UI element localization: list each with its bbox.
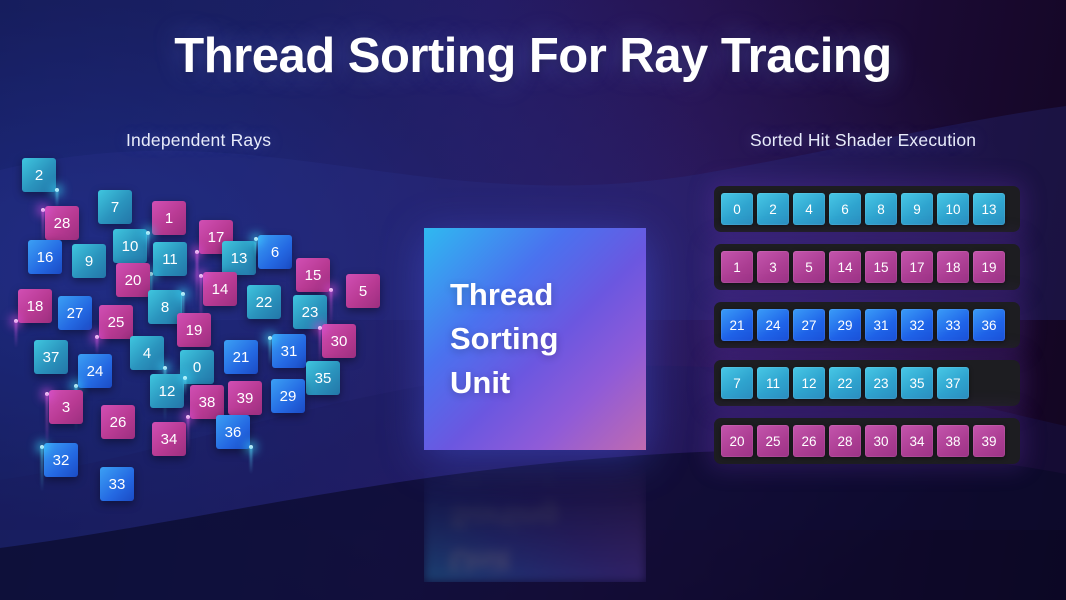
ray-chip-label: 1 — [165, 210, 173, 227]
ray-chip[interactable]: 1 — [152, 201, 186, 235]
ray-chip-label: 25 — [108, 314, 125, 331]
ray-chip-label: 21 — [233, 349, 250, 366]
tsu-line-2: Sorting — [450, 317, 646, 361]
sorted-cell[interactable]: 1 — [721, 251, 753, 283]
section-label-independent-rays: Independent Rays — [126, 130, 271, 151]
ray-chip-label: 27 — [67, 305, 84, 322]
ray-chip[interactable]: 29 — [271, 379, 305, 413]
ray-chip-label: 34 — [161, 431, 178, 448]
ray-chip-label: 31 — [281, 343, 298, 360]
ray-chip-label: 9 — [85, 253, 93, 270]
ray-chip-label: 19 — [186, 322, 203, 339]
sorted-cell-label: 38 — [945, 434, 960, 449]
tsu-line-3: Unit — [450, 361, 646, 405]
sorted-cell-label: 11 — [766, 376, 780, 391]
ray-chip[interactable]: 2 — [22, 158, 56, 192]
sorted-cell-label: 32 — [909, 318, 924, 333]
ray-chip-label: 8 — [161, 299, 169, 316]
ray-chip[interactable]: 0 — [180, 350, 214, 384]
sorted-cell-label: 3 — [769, 260, 777, 275]
sorted-cell-label: 9 — [913, 202, 921, 217]
ray-chip-label: 0 — [193, 359, 201, 376]
sorted-cell[interactable]: 18 — [937, 251, 969, 283]
sorted-cell-label: 2 — [769, 202, 777, 217]
ray-chip[interactable]: 11 — [153, 242, 187, 276]
sorted-cell-label: 37 — [945, 376, 960, 391]
tsu-reflection-line-1: Thread — [450, 452, 646, 494]
sorted-cell-label: 0 — [733, 202, 741, 217]
ray-chip-label: 7 — [111, 199, 119, 216]
ray-chip[interactable]: 5 — [346, 274, 380, 308]
ray-chip[interactable]: 30 — [322, 324, 356, 358]
ray-chip[interactable]: 14 — [203, 272, 237, 306]
sorted-cell[interactable]: 29 — [829, 309, 861, 341]
thread-sorting-unit-reflection: Unit Sorting Thread — [424, 452, 646, 582]
slide-canvas: Thread Sorting For Ray Tracing Independe… — [0, 0, 1066, 600]
ray-chip-label: 33 — [109, 476, 126, 493]
sorted-cell-label: 21 — [729, 318, 744, 333]
sorted-cell[interactable]: 12 — [793, 367, 825, 399]
sorted-cell-label: 27 — [801, 318, 816, 333]
sorted-cell-label: 36 — [981, 318, 996, 333]
ray-chip[interactable]: 9 — [72, 244, 106, 278]
sorted-cell[interactable]: 17 — [901, 251, 933, 283]
ray-chip-label: 4 — [143, 345, 151, 362]
ray-chip[interactable]: 15 — [296, 258, 330, 292]
ray-chip[interactable]: 27 — [58, 296, 92, 330]
sorted-cell[interactable]: 22 — [829, 367, 861, 399]
sorted-cell[interactable]: 19 — [973, 251, 1005, 283]
ray-streak-icon — [319, 328, 321, 364]
sorted-cell[interactable]: 23 — [865, 367, 897, 399]
ray-chip-label: 24 — [87, 363, 104, 380]
ray-chip-label: 14 — [212, 281, 229, 298]
sorted-cell-label: 19 — [981, 260, 996, 275]
sorted-cell-label: 6 — [841, 202, 849, 217]
ray-chip-label: 12 — [159, 383, 176, 400]
ray-streak-icon — [96, 337, 98, 355]
sorted-cell[interactable]: 2 — [757, 193, 789, 225]
ray-chip[interactable]: 7 — [98, 190, 132, 224]
sorted-cell-label: 8 — [877, 202, 885, 217]
ray-chip[interactable]: 31 — [272, 334, 306, 368]
independent-rays-scatter: 2728117161091113620155142218278232519303… — [0, 150, 420, 510]
ray-chip[interactable]: 37 — [34, 340, 68, 374]
ray-chip[interactable]: 10 — [113, 229, 147, 263]
sorted-cell-label: 29 — [837, 318, 852, 333]
ray-streak-icon — [41, 447, 43, 492]
sorted-cell-label: 39 — [981, 434, 996, 449]
ray-chip-label: 13 — [231, 250, 248, 267]
sorted-cell[interactable]: 26 — [793, 425, 825, 457]
sorted-cell-label: 14 — [837, 260, 852, 275]
ray-streak-icon — [15, 321, 17, 348]
tsu-reflection-line-2: Sorting — [450, 494, 646, 538]
sorted-cell[interactable]: 34 — [901, 425, 933, 457]
sorted-cell[interactable]: 3 — [757, 251, 789, 283]
sorted-rows-container: 0246891013135141517181921242729313233367… — [714, 186, 1020, 476]
ray-streak-icon — [46, 394, 48, 448]
sorted-cell[interactable]: 39 — [973, 425, 1005, 457]
sorted-cell-label: 1 — [733, 260, 741, 275]
sorted-cell-label: 5 — [805, 260, 813, 275]
sorted-cell-label: 31 — [873, 318, 888, 333]
ray-chip[interactable]: 24 — [78, 354, 112, 388]
ray-chip-label: 2 — [35, 167, 43, 184]
sorted-cell[interactable]: 30 — [865, 425, 897, 457]
sorted-cell[interactable]: 37 — [937, 367, 969, 399]
ray-chip-label: 36 — [225, 424, 242, 441]
ray-chip-label: 30 — [331, 333, 348, 350]
sorted-cell-label: 35 — [909, 376, 924, 391]
ray-chip-label: 3 — [62, 399, 70, 416]
ray-chip-label: 15 — [305, 267, 322, 284]
sorted-row: 7111222233537 — [714, 360, 1020, 406]
ray-chip[interactable]: 28 — [45, 206, 79, 240]
ray-chip[interactable]: 6 — [258, 235, 292, 269]
sorted-cell[interactable]: 7 — [721, 367, 753, 399]
section-label-sorted-execution: Sorted Hit Shader Execution — [750, 130, 976, 151]
ray-chip[interactable]: 16 — [28, 240, 62, 274]
sorted-cell[interactable]: 21 — [721, 309, 753, 341]
sorted-cell[interactable]: 0 — [721, 193, 753, 225]
ray-chip[interactable]: 21 — [224, 340, 258, 374]
sorted-cell[interactable]: 11 — [757, 367, 789, 399]
ray-chip-label: 18 — [27, 298, 44, 315]
ray-chip[interactable]: 32 — [44, 443, 78, 477]
ray-chip-label: 11 — [162, 251, 178, 268]
ray-chip[interactable]: 3 — [49, 390, 83, 424]
ray-chip-label: 23 — [302, 304, 319, 321]
sorted-cell-label: 15 — [873, 260, 888, 275]
ray-chip-label: 22 — [256, 294, 273, 311]
sorted-cell-label: 28 — [837, 434, 852, 449]
sorted-cell-label: 4 — [805, 202, 813, 217]
sorted-cell[interactable]: 6 — [829, 193, 861, 225]
sorted-cell[interactable]: 13 — [973, 193, 1005, 225]
sorted-cell-label: 20 — [729, 434, 744, 449]
ray-streak-icon — [147, 233, 149, 260]
ray-chip-label: 35 — [315, 370, 332, 387]
sorted-cell-label: 17 — [909, 260, 924, 275]
sorted-cell[interactable]: 15 — [865, 251, 897, 283]
tsu-reflection-line-3: Unit — [450, 538, 646, 582]
sorted-cell[interactable]: 31 — [865, 309, 897, 341]
sorted-cell[interactable]: 9 — [901, 193, 933, 225]
ray-chip[interactable]: 19 — [177, 313, 211, 347]
sorted-cell[interactable]: 28 — [829, 425, 861, 457]
ray-chip[interactable]: 25 — [99, 305, 133, 339]
sorted-cell-label: 10 — [945, 202, 960, 217]
ray-chip[interactable]: 38 — [190, 385, 224, 419]
sorted-cell[interactable]: 25 — [757, 425, 789, 457]
ray-chip-label: 20 — [125, 272, 142, 289]
sorted-cell-label: 34 — [909, 434, 924, 449]
sorted-cell[interactable]: 38 — [937, 425, 969, 457]
ray-chip-label: 16 — [37, 249, 54, 266]
sorted-cell[interactable]: 36 — [973, 309, 1005, 341]
sorted-cell-label: 30 — [873, 434, 888, 449]
ray-chip-label: 39 — [237, 390, 254, 407]
sorted-cell-label: 7 — [733, 376, 741, 391]
sorted-cell-label: 26 — [801, 434, 816, 449]
sorted-cell[interactable]: 5 — [793, 251, 825, 283]
ray-chip[interactable]: 36 — [216, 415, 250, 449]
sorted-cell[interactable]: 14 — [829, 251, 861, 283]
sorted-cell[interactable]: 4 — [793, 193, 825, 225]
ray-chip[interactable]: 20 — [116, 263, 150, 297]
sorted-cell[interactable]: 8 — [865, 193, 897, 225]
ray-chip-label: 29 — [280, 388, 297, 405]
sorted-cell-label: 25 — [765, 434, 780, 449]
ray-chip[interactable]: 35 — [306, 361, 340, 395]
sorted-cell-label: 12 — [801, 376, 816, 391]
ray-chip-label: 10 — [122, 238, 139, 255]
ray-chip[interactable]: 39 — [228, 381, 262, 415]
sorted-row: 1351415171819 — [714, 244, 1020, 290]
ray-streak-icon — [269, 338, 271, 365]
ray-chip[interactable]: 34 — [152, 422, 186, 456]
ray-chip-label: 26 — [110, 414, 127, 431]
sorted-cell-label: 18 — [945, 260, 960, 275]
sorted-cell[interactable]: 24 — [757, 309, 789, 341]
ray-chip[interactable]: 4 — [130, 336, 164, 370]
ray-chip[interactable]: 12 — [150, 374, 184, 408]
sorted-cell-label: 22 — [837, 376, 852, 391]
ray-chip-label: 32 — [53, 452, 70, 469]
ray-streak-icon — [196, 252, 198, 306]
sorted-row: 2124272931323336 — [714, 302, 1020, 348]
sorted-cell-label: 23 — [873, 376, 888, 391]
ray-chip[interactable]: 22 — [247, 285, 281, 319]
ray-chip-label: 6 — [271, 244, 279, 261]
page-title: Thread Sorting For Ray Tracing — [0, 28, 1066, 84]
ray-chip[interactable]: 26 — [101, 405, 135, 439]
ray-streak-icon — [250, 447, 252, 474]
thread-sorting-unit-box[interactable]: Thread Sorting Unit — [424, 228, 646, 450]
sorted-cell-empty — [973, 367, 1005, 399]
sorted-cell[interactable]: 35 — [901, 367, 933, 399]
ray-chip-label: 37 — [43, 349, 60, 366]
sorted-row: 0246891013 — [714, 186, 1020, 232]
sorted-cell-label: 33 — [945, 318, 960, 333]
ray-streak-icon — [187, 417, 189, 453]
sorted-cell[interactable]: 32 — [901, 309, 933, 341]
ray-chip-label: 38 — [199, 394, 216, 411]
tsu-line-1: Thread — [450, 273, 646, 317]
ray-chip[interactable]: 18 — [18, 289, 52, 323]
ray-streak-icon — [330, 290, 332, 326]
sorted-cell-label: 13 — [981, 202, 996, 217]
sorted-row: 2025262830343839 — [714, 418, 1020, 464]
ray-chip[interactable]: 13 — [222, 241, 256, 275]
ray-chip[interactable]: 33 — [100, 467, 134, 501]
sorted-cell[interactable]: 27 — [793, 309, 825, 341]
sorted-cell[interactable]: 33 — [937, 309, 969, 341]
sorted-cell-label: 24 — [765, 318, 780, 333]
ray-chip-label: 5 — [359, 283, 367, 300]
ray-chip-label: 28 — [54, 215, 71, 232]
sorted-cell[interactable]: 10 — [937, 193, 969, 225]
sorted-cell[interactable]: 20 — [721, 425, 753, 457]
